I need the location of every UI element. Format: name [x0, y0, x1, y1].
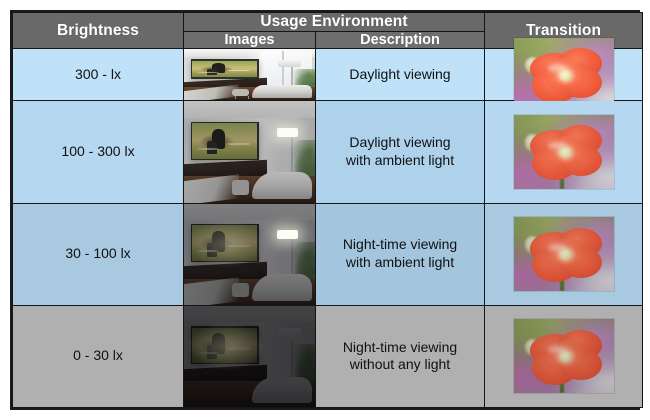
column-header-usage-environment: Usage Environment [184, 13, 485, 32]
table-row: 100 - 300 lx [13, 101, 643, 203]
table-row: 300 - lx [13, 49, 643, 101]
cell-transition-1 [485, 49, 643, 101]
screenshot-root: Brightness Usage Environment Transition … [0, 0, 650, 420]
ambient-dim-overlay [184, 101, 315, 202]
living-room-daylight-image [184, 49, 315, 100]
description-line-1: Daylight viewing [316, 66, 484, 84]
flower-dim-overlay [514, 319, 614, 393]
description-line-1: Daylight viewing [316, 134, 484, 152]
column-header-images: Images [184, 32, 316, 49]
tv-screen-glow [187, 220, 266, 269]
column-header-brightness: Brightness [13, 13, 184, 49]
cell-image-4 [184, 305, 316, 407]
living-room-daylight-ambient-image [184, 101, 315, 202]
cell-description-1: Daylight viewing [316, 49, 485, 101]
ambient-dim-overlay [184, 49, 315, 100]
flower-center [559, 70, 572, 81]
cell-transition-2 [485, 101, 643, 203]
cell-description-4: Night-time viewing without any light [316, 305, 485, 407]
cell-transition-4 [485, 305, 643, 407]
brightness-usage-table: Brightness Usage Environment Transition … [10, 10, 640, 410]
cell-image-2 [184, 101, 316, 203]
cell-image-1 [184, 49, 316, 101]
cell-brightness-3: 30 - 100 lx [13, 203, 184, 305]
flower-dim-overlay [514, 217, 614, 291]
column-header-description: Description [316, 32, 485, 49]
table-body: 300 - lx [13, 49, 643, 408]
flower-dim-overlay [514, 115, 614, 189]
comparison-table: Brightness Usage Environment Transition … [12, 12, 643, 408]
description-line-1: Night-time viewing [316, 339, 484, 357]
living-room-night-dark-image [184, 306, 315, 407]
tv-screen-glow [187, 322, 266, 371]
description-line-2: with ambient light [316, 254, 484, 272]
cell-description-2: Daylight viewing with ambient light [316, 101, 485, 203]
poppy-flower-dim-image [514, 217, 614, 291]
wall-light [277, 230, 298, 239]
living-room-night-ambient-image [184, 204, 315, 305]
table-row: 30 - 100 lx [13, 203, 643, 305]
poppy-flower-dim-image [514, 319, 614, 393]
cell-description-3: Night-time viewing with ambient light [316, 203, 485, 305]
cell-transition-3 [485, 203, 643, 305]
poppy-flower-bright-image [514, 115, 614, 189]
cell-brightness-2: 100 - 300 lx [13, 101, 184, 203]
description-line-2: with ambient light [316, 152, 484, 170]
header-row-primary: Brightness Usage Environment Transition [13, 13, 643, 32]
wall-light [277, 128, 298, 137]
table-row: 0 - 30 lx [13, 305, 643, 407]
cell-image-3 [184, 203, 316, 305]
description-line-1: Night-time viewing [316, 236, 484, 254]
description-line-2: without any light [316, 356, 484, 374]
cell-brightness-1: 300 - lx [13, 49, 184, 101]
cell-brightness-4: 0 - 30 lx [13, 305, 184, 407]
